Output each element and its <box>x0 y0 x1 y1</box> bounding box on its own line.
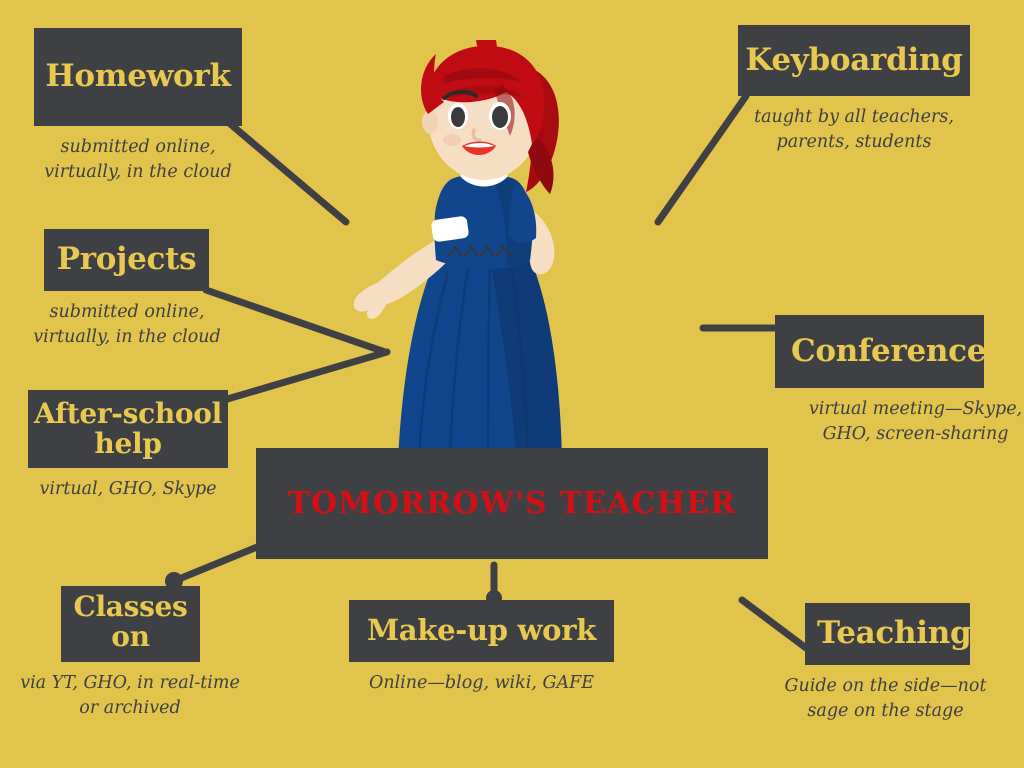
node-homework-box[interactable]: Homework <box>34 28 242 126</box>
node-afterschool-title: After-school help <box>28 399 228 459</box>
right-pupil <box>492 106 508 128</box>
node-makeup-title: Make-up work <box>367 615 596 646</box>
node-conferences-box[interactable]: Conferences <box>775 315 984 388</box>
node-makeup-caption: Online—blog, wiki, GAFE <box>349 671 614 696</box>
teacher-illustration <box>340 40 640 470</box>
node-conferences-caption: virtual meeting—Skype, GHO, screen-shari… <box>793 397 1024 447</box>
node-makeup-box[interactable]: Make-up work <box>349 600 614 662</box>
node-keyboarding[interactable]: Keyboarding taught by all teachers, pare… <box>738 25 970 155</box>
connector-homework <box>228 122 346 222</box>
node-conferences[interactable]: Conferences virtual meeting—Skype, GHO, … <box>775 315 984 447</box>
node-classes-box[interactable]: Classes on <box>61 586 200 662</box>
node-afterschool-box[interactable]: After-school help <box>28 390 228 468</box>
left-hand <box>354 282 390 319</box>
node-makeup[interactable]: Make-up work Online—blog, wiki, GAFE <box>349 600 614 696</box>
node-afterschool[interactable]: After-school help virtual, GHO, Skype <box>28 390 228 502</box>
connector-keyboarding <box>658 96 746 222</box>
node-homework[interactable]: Homework submitted online, virtually, in… <box>34 28 242 185</box>
center-node: TOMORROW'S TEACHER <box>256 448 768 559</box>
connector-teaching <box>742 600 806 648</box>
left-cheek <box>443 134 461 146</box>
node-projects[interactable]: Projects submitted online, virtually, in… <box>44 229 209 350</box>
node-projects-caption: submitted online, virtually, in the clou… <box>22 300 232 350</box>
node-keyboarding-box[interactable]: Keyboarding <box>738 25 970 96</box>
node-teaching-box[interactable]: Teaching <box>805 603 970 665</box>
node-keyboarding-caption: taught by all teachers, parents, student… <box>738 105 970 155</box>
node-afterschool-caption: virtual, GHO, Skype <box>28 477 228 502</box>
node-classes-caption: via YT, GHO, in real-time or archived <box>15 671 245 721</box>
left-ear <box>422 110 438 134</box>
infographic-canvas: TOMORROW'S TEACHER Homework submitted on… <box>0 0 1024 768</box>
connector-classes <box>174 545 262 581</box>
node-teaching[interactable]: Teaching Guide on the side—not sage on t… <box>805 603 970 724</box>
node-teaching-caption: Guide on the side—not sage on the stage <box>763 674 1008 724</box>
node-conferences-title: Conferences <box>791 335 984 368</box>
center-title: TOMORROW'S TEACHER <box>288 486 737 521</box>
node-classes[interactable]: Classes on via YT, GHO, in real-time or … <box>61 586 200 721</box>
left-pupil <box>451 107 465 127</box>
node-homework-title: Homework <box>45 60 230 93</box>
node-classes-title: Classes on <box>61 592 200 652</box>
node-teaching-title: Teaching <box>817 617 970 650</box>
node-homework-caption: submitted online, virtually, in the clou… <box>34 135 242 185</box>
node-projects-title: Projects <box>57 243 197 276</box>
node-keyboarding-title: Keyboarding <box>745 44 962 77</box>
node-projects-box[interactable]: Projects <box>44 229 209 291</box>
